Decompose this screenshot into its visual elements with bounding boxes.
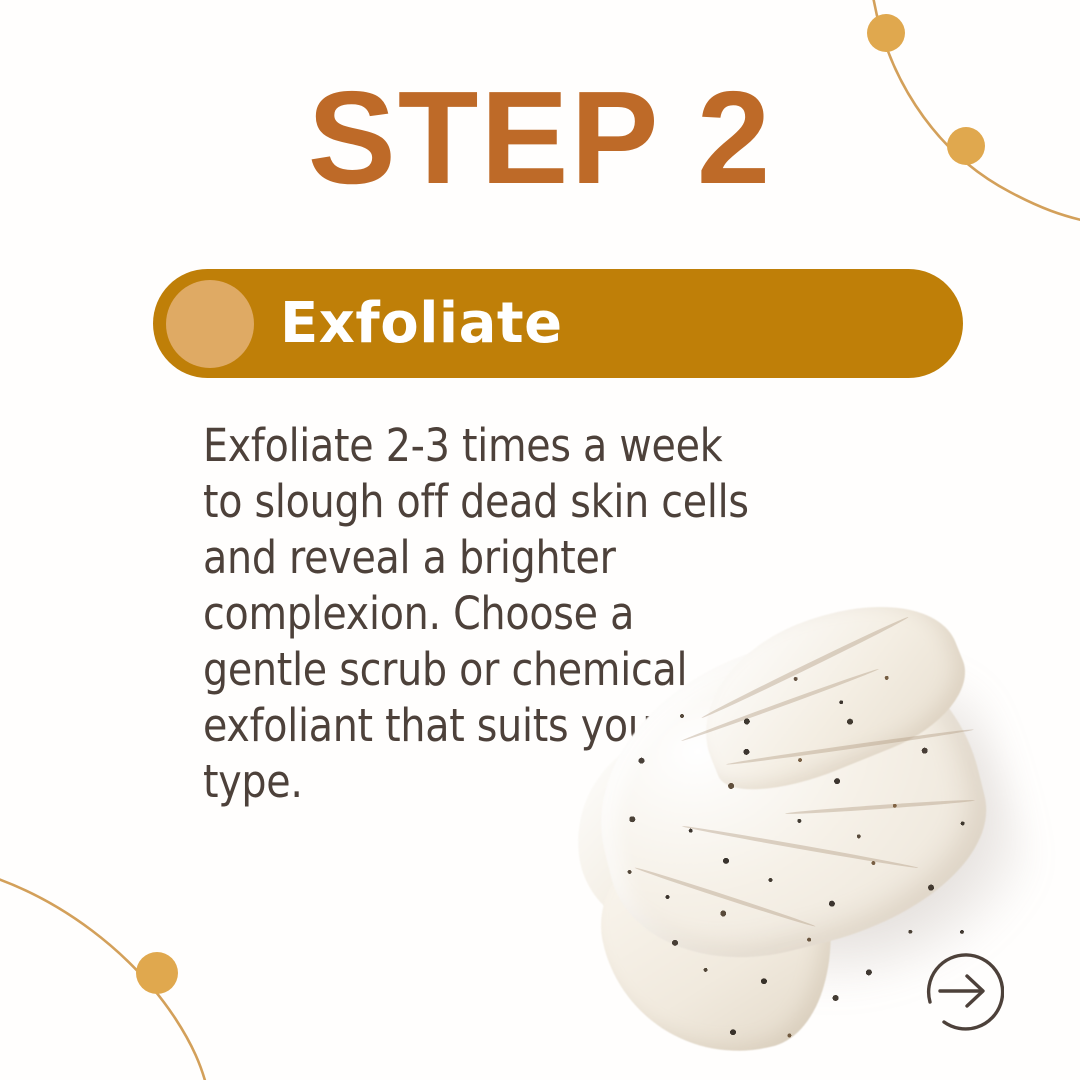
page-title: STEP 2	[0, 72, 1080, 204]
step-banner: Exfoliate	[153, 269, 963, 378]
step-banner-label: Exfoliate	[280, 296, 563, 352]
circle-bullet-icon	[166, 280, 254, 368]
top-right-dot-1	[867, 14, 905, 52]
bottom-left-arc	[0, 876, 208, 1080]
arrow-right-circle-icon[interactable]	[922, 950, 1004, 1032]
slide-canvas: STEP 2 Exfoliate Exfoliate 2-3 times a w…	[0, 0, 1080, 1080]
bottom-left-dot-1	[136, 952, 178, 994]
